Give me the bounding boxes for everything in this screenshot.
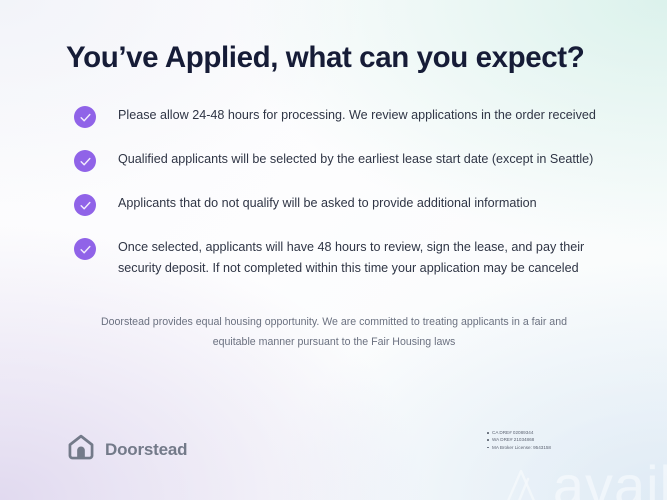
list-item-text: Applicants that do not qualify will be a… bbox=[118, 193, 537, 214]
watermark-text: avail bbox=[553, 458, 667, 500]
check-circle-icon bbox=[74, 194, 96, 216]
logo-wordmark: Doorstead bbox=[105, 440, 187, 460]
list-item-line1: Qualified applicants will be selected by… bbox=[118, 152, 593, 166]
expectations-checklist: Please allow 24-48 hours for processing.… bbox=[74, 106, 634, 279]
list-item-text: Please allow 24-48 hours for processing.… bbox=[118, 105, 596, 126]
check-circle-icon bbox=[74, 106, 96, 128]
page-title: You’ve Applied, what can you expect? bbox=[66, 40, 626, 75]
list-item-line1: Applicants that do not qualify will be a… bbox=[118, 196, 537, 210]
doorstead-logo: Doorstead bbox=[66, 432, 187, 467]
list-item-line1: Once selected, applicants will have 48 h… bbox=[118, 240, 584, 254]
disclaimer-line2: equitable manner pursuant to the Fair Ho… bbox=[84, 333, 584, 353]
avail-watermark: avail bbox=[499, 458, 667, 500]
slide-canvas: You’ve Applied, what can you expect? Ple… bbox=[0, 0, 667, 500]
house-logo-icon bbox=[66, 432, 96, 467]
disclaimer-line1: Doorstead provides equal housing opportu… bbox=[84, 313, 584, 333]
list-item-text: Once selected, applicants will have 48 h… bbox=[118, 237, 584, 279]
avail-logo-icon bbox=[499, 459, 551, 500]
list-item: WA DRE# 21034868 bbox=[487, 436, 551, 443]
list-item: Qualified applicants will be selected by… bbox=[74, 150, 634, 172]
list-item: Applicants that do not qualify will be a… bbox=[74, 194, 634, 216]
list-item: CA DRE# 02089344 bbox=[487, 429, 551, 436]
list-item-line1: Please allow 24-48 hours for processing.… bbox=[118, 108, 596, 122]
license-list: CA DRE# 02089344 WA DRE# 21034868 MA Bro… bbox=[487, 429, 551, 451]
list-item-text: Qualified applicants will be selected by… bbox=[118, 149, 593, 170]
list-item-line2: security deposit. If not completed withi… bbox=[118, 258, 584, 279]
check-circle-icon bbox=[74, 150, 96, 172]
fair-housing-disclaimer: Doorstead provides equal housing opportu… bbox=[84, 313, 584, 352]
list-item: Once selected, applicants will have 48 h… bbox=[74, 238, 634, 279]
list-item: Please allow 24-48 hours for processing.… bbox=[74, 106, 634, 128]
list-item: MA Broker License: 9543158 bbox=[487, 444, 551, 451]
check-circle-icon bbox=[74, 238, 96, 260]
